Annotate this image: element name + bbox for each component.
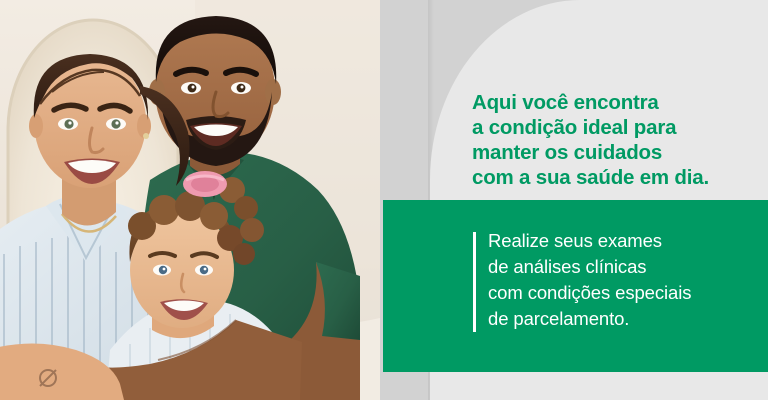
pink-scrunchie [183, 171, 227, 197]
accent-bar [473, 232, 476, 332]
callout-line-3: com condições especiais [488, 280, 758, 306]
callout-line-1: Realize seus exames [488, 228, 758, 254]
family-photo-illustration [0, 0, 380, 400]
headline-line-1: Aqui você encontra [472, 90, 762, 115]
headline-line-3: manter os cuidados [472, 140, 762, 165]
headline-line-4: com a sua saúde em dia. [472, 165, 762, 190]
headline: Aqui você encontra a condição ideal para… [472, 90, 762, 190]
family-photo [0, 0, 380, 400]
headline-line-2: a condição ideal para [472, 115, 762, 140]
callout-line-4: de parcelamento. [488, 306, 758, 332]
callout-text: Realize seus exames de análises clínicas… [488, 228, 758, 332]
callout-box: Realize seus exames de análises clínicas… [383, 200, 768, 372]
promo-banner: Aqui você encontra a condição ideal para… [0, 0, 768, 400]
callout-line-2: de análises clínicas [488, 254, 758, 280]
